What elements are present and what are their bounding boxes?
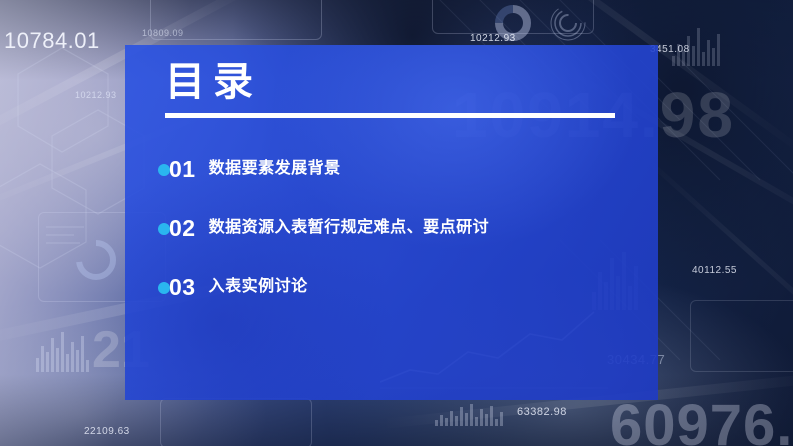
background-ghost-number: 60976.21 — [610, 392, 793, 446]
background-number: 10784.01 — [4, 28, 100, 54]
background-number: 22109.63 — [84, 426, 130, 437]
title-divider — [165, 113, 615, 118]
hud-panel-icon — [44, 222, 104, 257]
toc-item-index: 03 — [169, 276, 196, 299]
presentation-slide: 10914.98 60976.21 21 10784.01 10809.09 1… — [0, 0, 793, 446]
bar-chart-icon — [435, 402, 503, 426]
toc-item-03[interactable]: 03 入表实例讨论 — [158, 275, 628, 299]
page-title: 目录 — [165, 59, 261, 105]
toc-item-label: 入表实例讨论 — [209, 279, 308, 295]
toc-list: 01 数据要素发展背景 02 数据资源入表暂行规定难点、要点研讨 03 入表实例… — [158, 157, 628, 299]
background-number: 40112.55 — [692, 265, 737, 276]
toc-item-01[interactable]: 01 数据要素发展背景 — [158, 157, 628, 181]
background-number: 10212.93 — [470, 33, 516, 44]
background-number: 63382.98 — [517, 406, 567, 418]
background-number: 10212.93 — [75, 90, 117, 100]
bar-chart-icon — [36, 330, 89, 372]
hud-panel-icon — [690, 300, 793, 372]
toc-item-02[interactable]: 02 数据资源入表暂行规定难点、要点研讨 — [158, 216, 628, 240]
ring-gauge-icon — [548, 3, 588, 48]
toc-item-label: 数据要素发展背景 — [209, 161, 341, 177]
toc-item-index: 01 — [169, 158, 196, 181]
background-number: 10809.09 — [142, 28, 184, 38]
toc-item-label: 数据资源入表暂行规定难点、要点研讨 — [209, 220, 490, 236]
toc-item-index: 02 — [169, 217, 196, 240]
toc-panel: 目录 01 数据要素发展背景 02 数据资源入表暂行规定难点、要点研讨 03 入… — [125, 45, 658, 400]
hud-panel-icon — [160, 398, 312, 446]
